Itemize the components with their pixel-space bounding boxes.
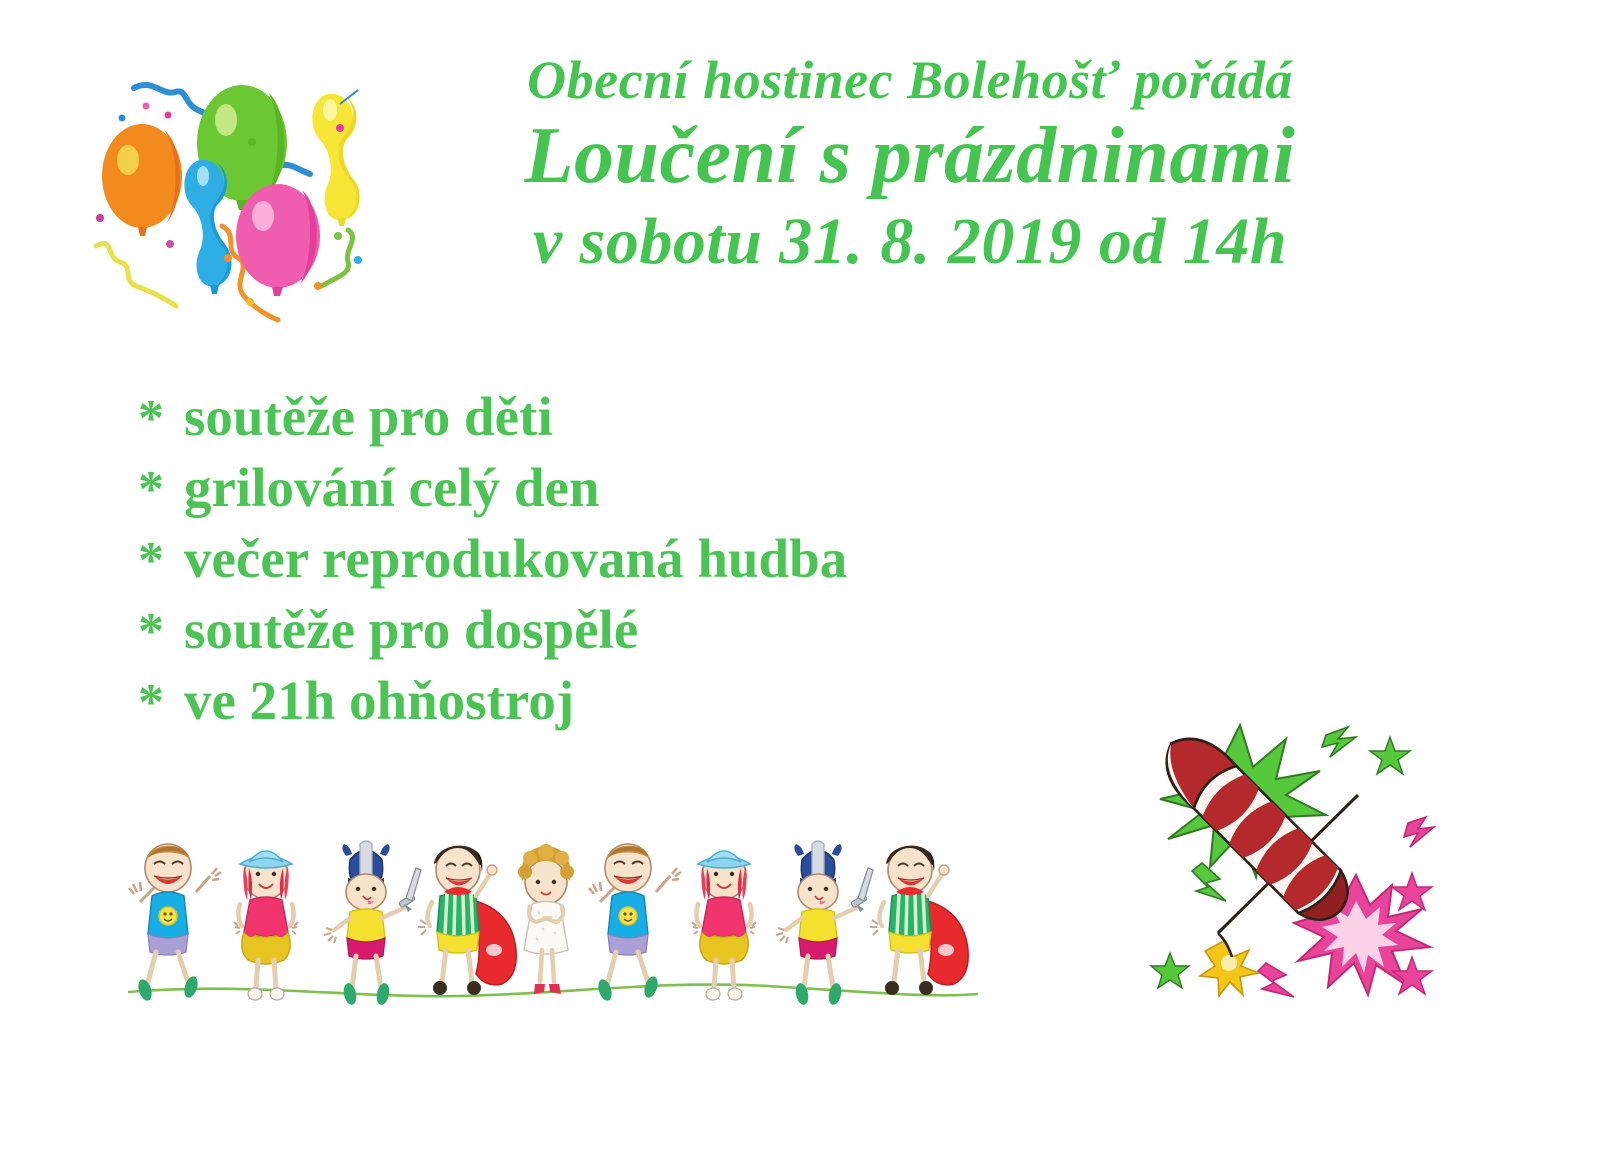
child-figure <box>692 851 756 1000</box>
pink-bolt-icon <box>1404 817 1434 847</box>
child-figure <box>418 846 516 995</box>
firework-rocket-clipart <box>1140 695 1450 995</box>
child-figure <box>129 844 221 1002</box>
list-item-label: soutěže pro děti <box>184 382 553 451</box>
list-item-label: ve 21h ohňostroj <box>184 666 574 735</box>
list-item-label: soutěže pro dospělé <box>184 595 638 664</box>
asterisk-icon: * <box>138 455 184 524</box>
list-item: * soutěže pro dospělé <box>138 595 847 666</box>
child-figure <box>234 851 298 1000</box>
header-block: Obecní hostinec Bolehošť pořádá Loučení … <box>400 52 1420 278</box>
green-star-icon <box>1151 953 1189 988</box>
program-list: * soutěže pro děti * grilování celý den … <box>138 382 847 737</box>
child-figure <box>776 841 873 1006</box>
list-item-label: večer reprodukovaná hudba <box>184 524 847 593</box>
balloons-clipart <box>72 58 402 348</box>
list-item: * grilování celý den <box>138 453 847 524</box>
green-star-icon <box>1370 737 1410 774</box>
pink-bolt-icon <box>1258 963 1294 997</box>
green-bolt-icon <box>1192 863 1226 901</box>
list-item: * ve 21h ohňostroj <box>138 666 847 737</box>
child-figure <box>324 841 421 1006</box>
child-figure <box>870 846 968 995</box>
children-clipart <box>128 826 978 1006</box>
asterisk-icon: * <box>138 526 184 595</box>
child-figure <box>518 844 574 994</box>
asterisk-icon: * <box>138 597 184 666</box>
poster-canvas: Obecní hostinec Bolehošť pořádá Loučení … <box>0 0 1600 1164</box>
organizer-line: Obecní hostinec Bolehošť pořádá <box>400 52 1420 108</box>
pink-star-icon <box>1392 873 1432 910</box>
green-bolt-icon <box>1322 727 1356 757</box>
child-figure <box>589 844 681 1002</box>
pink-star-icon <box>1392 957 1432 994</box>
event-date-line: v sobotu 31. 8. 2019 od 14h <box>400 206 1420 279</box>
event-title: Loučení s prázdninami <box>400 112 1420 202</box>
list-item-label: grilování celý den <box>184 453 600 522</box>
list-item: * večer reprodukovaná hudba <box>138 524 847 595</box>
asterisk-icon: * <box>138 384 184 453</box>
asterisk-icon: * <box>138 668 184 737</box>
list-item: * soutěže pro děti <box>138 382 847 453</box>
